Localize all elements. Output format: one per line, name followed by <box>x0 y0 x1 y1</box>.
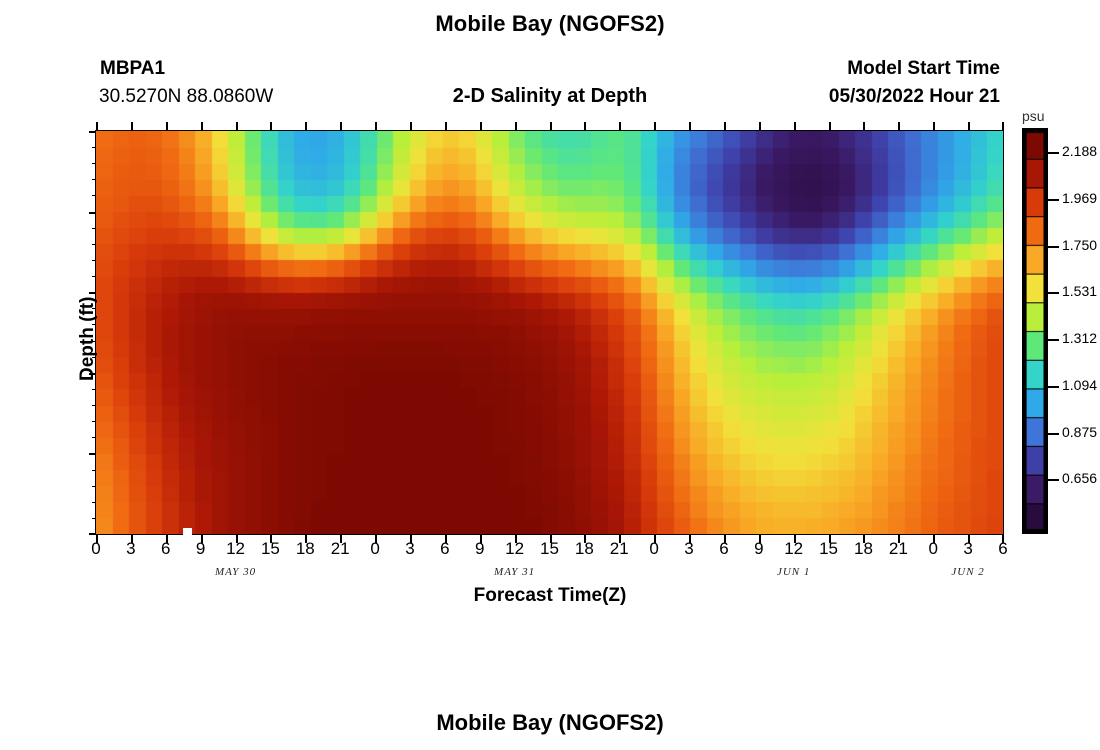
colorbar-tick-label: 1.969 <box>1062 190 1097 206</box>
colorbar-tick-label: 1.094 <box>1062 377 1097 393</box>
y-minor-tick <box>92 163 96 164</box>
x-tick-mark-top <box>340 122 342 131</box>
salinity-depth-figure: Mobile Bay (NGOFS2) MBPA1 30.5270N 88.08… <box>0 0 1100 750</box>
colorbar-tick-label: 0.656 <box>1062 470 1097 486</box>
x-tick-mark-top <box>166 122 168 131</box>
colorbar-tick-label: 1.531 <box>1062 283 1097 299</box>
x-tick-mark-top <box>898 122 900 131</box>
x-tick-mark-top <box>305 122 307 131</box>
y-minor-tick <box>92 389 96 390</box>
x-date-label: MAY 31 <box>475 566 555 578</box>
x-tick-mark-top <box>550 122 552 131</box>
x-date-label: MAY 30 <box>196 566 276 578</box>
x-tick-mark-top <box>933 122 935 131</box>
model-start-time-label: Model Start Time <box>847 58 1000 80</box>
colorbar-tick-mark <box>1048 433 1059 435</box>
y-minor-tick <box>92 518 96 519</box>
colorbar-tick-mark <box>1048 152 1059 154</box>
y-minor-tick <box>92 405 96 406</box>
y-tick-mark <box>89 373 96 375</box>
y-minor-tick <box>92 357 96 358</box>
x-tick-mark-top <box>445 122 447 131</box>
x-tick-label: 6 <box>983 539 1023 559</box>
y-tick-mark <box>89 533 96 535</box>
colorbar-tick-label: 1.312 <box>1062 330 1097 346</box>
y-minor-tick <box>92 276 96 277</box>
y-minor-tick <box>92 502 96 503</box>
x-tick-mark-top <box>724 122 726 131</box>
model-start-time-value: 05/30/2022 Hour 21 <box>829 86 1000 108</box>
footer-title: Mobile Bay (NGOFS2) <box>0 710 1100 736</box>
y-tick-mark <box>89 453 96 455</box>
colorbar <box>1022 128 1048 534</box>
y-minor-tick <box>92 308 96 309</box>
x-tick-mark-top <box>236 122 238 131</box>
page-title: Mobile Bay (NGOFS2) <box>0 11 1100 37</box>
y-minor-tick <box>92 421 96 422</box>
x-tick-mark-top <box>863 122 865 131</box>
colorbar-tick-mark <box>1048 292 1059 294</box>
y-minor-tick <box>92 260 96 261</box>
colorbar-unit-label: psu <box>1022 108 1045 124</box>
colorbar-gradient <box>1022 128 1048 534</box>
salinity-heatmap[interactable] <box>96 131 1003 534</box>
x-tick-mark-top <box>131 122 133 131</box>
x-tick-mark-top <box>375 122 377 131</box>
y-minor-tick <box>92 437 96 438</box>
x-tick-mark-top <box>201 122 203 131</box>
x-tick-mark-top <box>654 122 656 131</box>
y-minor-tick <box>92 195 96 196</box>
x-tick-mark-top <box>480 122 482 131</box>
x-tick-mark-top <box>829 122 831 131</box>
colorbar-tick-label: 0.875 <box>1062 424 1097 440</box>
heatmap-plot-area[interactable]: Depth (ft) 0510152025 036912151821036912… <box>95 130 1004 535</box>
station-id-label: MBPA1 <box>100 58 165 80</box>
x-date-label: JUN 1 <box>754 566 834 578</box>
y-minor-tick <box>92 324 96 325</box>
colorbar-tick-mark <box>1048 246 1059 248</box>
x-axis-title: Forecast Time(Z) <box>0 585 1100 607</box>
y-minor-tick <box>92 470 96 471</box>
x-date-label: JUN 2 <box>928 566 1008 578</box>
y-minor-tick <box>92 228 96 229</box>
y-minor-tick <box>92 147 96 148</box>
colorbar-tick-label: 2.188 <box>1062 143 1097 159</box>
y-minor-tick <box>92 341 96 342</box>
y-minor-tick <box>92 244 96 245</box>
x-tick-mark-top <box>270 122 272 131</box>
current-time-marker <box>183 528 192 537</box>
y-tick-mark <box>89 212 96 214</box>
x-tick-mark-top <box>1002 122 1004 131</box>
colorbar-tick-label: 1.750 <box>1062 237 1097 253</box>
x-tick-mark-top <box>689 122 691 131</box>
x-tick-mark-top <box>794 122 796 131</box>
x-tick-mark-top <box>619 122 621 131</box>
x-tick-mark-top <box>968 122 970 131</box>
x-tick-mark-top <box>515 122 517 131</box>
y-minor-tick <box>92 486 96 487</box>
y-minor-tick <box>92 179 96 180</box>
colorbar-tick-mark <box>1048 479 1059 481</box>
colorbar-tick-mark <box>1048 386 1059 388</box>
x-tick-mark-top <box>759 122 761 131</box>
x-tick-mark-top <box>96 122 98 131</box>
y-tick-mark <box>89 131 96 133</box>
y-tick-mark <box>89 292 96 294</box>
colorbar-tick-mark <box>1048 199 1059 201</box>
colorbar-tick-mark <box>1048 339 1059 341</box>
x-tick-mark-top <box>410 122 412 131</box>
x-tick-mark-top <box>584 122 586 131</box>
